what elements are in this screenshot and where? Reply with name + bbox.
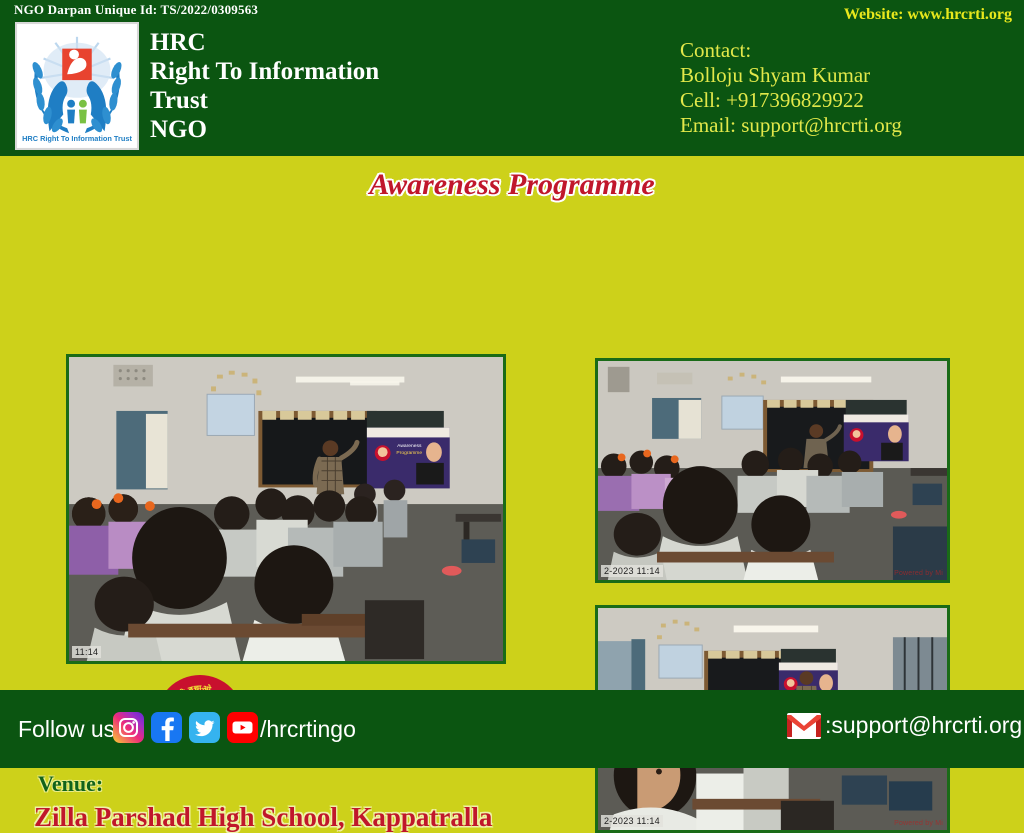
svg-text:Awareness: Awareness [397, 443, 422, 449]
classroom-scene-main: Awareness Programme [69, 357, 503, 661]
contact-cell: Cell: +917396829922 [680, 88, 902, 113]
org-line-1: HRC [150, 28, 379, 57]
contact-person-name: Bolloju Shyam Kumar [680, 63, 902, 88]
facebook-glyph [151, 712, 182, 743]
photo-timestamp: 2-2023 11:14 [601, 565, 663, 577]
follow-us-label: Follow us: [18, 716, 122, 743]
ngo-darpan-id: NGO Darpan Unique Id: TS/2022/0309563 [14, 2, 258, 18]
photo-classroom-top-right[interactable]: 2-2023 11:14 Powered by Mi [595, 358, 950, 583]
org-line-2: Right To Information [150, 57, 379, 86]
twitter-glyph [189, 712, 220, 743]
youtube-icon[interactable] [227, 712, 258, 743]
contact-email[interactable]: Email: support@hrcrti.org [680, 113, 902, 138]
email-text: :support@hrcrti.org [825, 712, 1022, 739]
youtube-glyph [227, 712, 258, 743]
social-links [113, 712, 258, 743]
instagram-icon[interactable] [113, 712, 144, 743]
hrc-logo-caption: HRC Right To Information Trust [22, 134, 132, 143]
venue-value: Zilla Parshad High School, Kappatralla [34, 802, 492, 833]
gmail-icon [787, 713, 821, 739]
photo-classroom-main[interactable]: Awareness Programme [66, 354, 506, 664]
hrc-logo: HRC Right To Information Trust [15, 22, 139, 150]
instagram-glyph [113, 712, 144, 743]
org-line-3: Trust [150, 86, 379, 115]
svg-text:Programme: Programme [396, 450, 422, 456]
email-contact[interactable]: :support@hrcrti.org [787, 712, 1022, 739]
page-header: NGO Darpan Unique Id: TS/2022/0309563 [0, 0, 1024, 156]
website-link[interactable]: Website: www.hrcrti.org [844, 6, 1012, 24]
photo-timestamp: 2-2023 11:14 [601, 815, 663, 827]
twitter-icon[interactable] [189, 712, 220, 743]
org-line-4: NGO [150, 115, 379, 144]
photo-watermark: Powered by Mi [894, 820, 943, 827]
photo-watermark: Powered by Mi [894, 570, 943, 577]
facebook-icon[interactable] [151, 712, 182, 743]
photo-timestamp: 11:14 [72, 646, 101, 658]
social-handle: /hrcrtingo [260, 716, 356, 743]
organization-name: HRC Right To Information Trust NGO [150, 28, 379, 144]
hrc-logo-icon: HRC Right To Information Trust [18, 25, 136, 147]
main-content: Awareness Programme [0, 156, 1024, 690]
page-title: Awareness Programme [0, 168, 1024, 202]
contact-block: Contact: Bolloju Shyam Kumar Cell: +9173… [680, 38, 902, 138]
contact-label: Contact: [680, 38, 902, 63]
venue-label: Venue: [38, 771, 103, 797]
classroom-scene-top-right [598, 361, 947, 580]
